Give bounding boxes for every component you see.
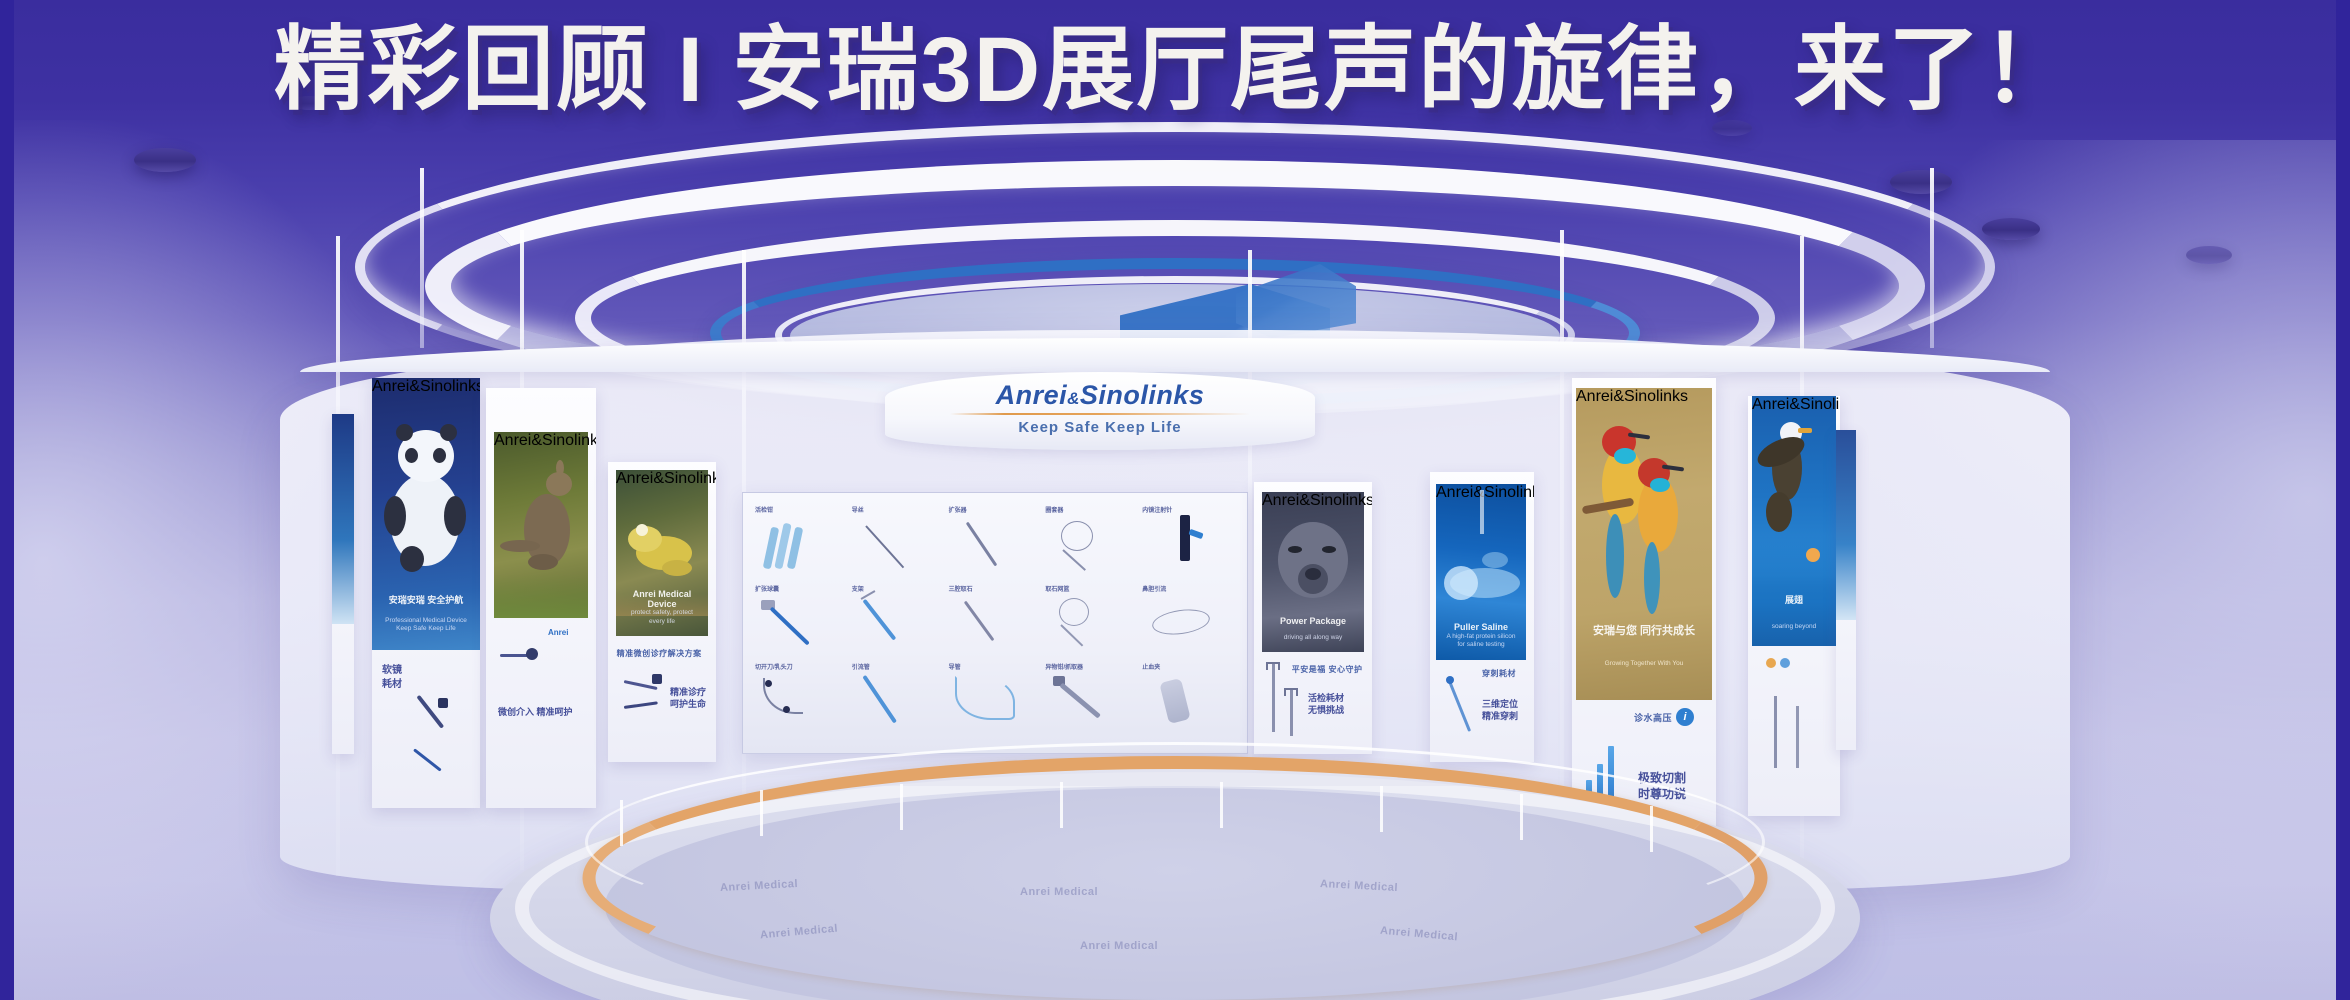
eagle-tail	[1766, 492, 1792, 532]
product-label: 内镜注射针	[1142, 505, 1172, 514]
floor-watermark-text: Anrei Medical	[1080, 940, 1158, 952]
kangaroo-leg	[528, 554, 558, 570]
badger-nose	[1305, 568, 1321, 580]
poster-subtitle: Growing Together With You	[1587, 660, 1701, 668]
product-display-wall: 活检钳 导丝 扩张器 圈套器 内镜注射针	[742, 492, 1248, 754]
poster-artwork-panda: Anrei&Sinolinks 安瑞安瑞 安全护航 Professional M…	[372, 378, 480, 650]
poster-brand-mark: Anrei&Sinolinks	[1262, 492, 1364, 510]
poster-board-edge-right	[1836, 430, 1856, 750]
poster-artwork-edge-right	[1836, 430, 1856, 620]
badger-eye-right	[1322, 546, 1336, 553]
poster-title: Power Package	[1270, 616, 1356, 626]
rail-post	[1380, 786, 1383, 832]
bird-one-throat	[1614, 448, 1636, 464]
product-cell: 异物钳/抓取器	[1043, 662, 1140, 741]
dot-icon	[1766, 658, 1776, 668]
poster-artwork-kangaroo: Anrei&Sinolinks	[494, 432, 588, 618]
product-label: 引流管	[852, 662, 870, 671]
brand-logo-plate: Anrei&Sinolinks Keep Safe Keep Life	[885, 372, 1315, 450]
brand-name-part1: Anrei	[996, 380, 1068, 410]
poster-board-panda: Anrei&Sinolinks 安瑞安瑞 安全护航 Professional M…	[372, 378, 480, 808]
product-cell: 内镜注射针	[1140, 505, 1237, 584]
poster-title: 安瑞与您 同行共成长	[1587, 622, 1701, 638]
poster-caption-secondary: 活检耗材 无惧挑战	[1308, 692, 1344, 716]
brand-logo-text: Anrei&Sinolinks	[885, 382, 1315, 409]
rail-post	[760, 790, 763, 836]
poster-subtitle: protect safety, protect every life	[623, 609, 700, 626]
brand-underline-rule	[950, 413, 1250, 415]
panda-ear-right	[440, 424, 457, 441]
whale-head	[1444, 566, 1478, 600]
product-cell: 圈套器	[1043, 505, 1140, 584]
poster-artwork-frog: Anrei&Sinolinks Anrei Medical Device pro…	[616, 470, 708, 636]
poster-title: Anrei Medical Device	[623, 589, 700, 609]
rail-post	[1520, 794, 1523, 840]
product-label: 活检钳	[755, 505, 773, 514]
product-label: 切开刀/乳头刀	[755, 662, 793, 671]
poster-caption-secondary: 三维定位 精准穿刺	[1482, 698, 1518, 722]
instrument-illustration	[500, 642, 540, 672]
poster-brand-mark: Anrei&Sinolinks	[494, 432, 588, 450]
product-cell: 鼻胆引流	[1140, 584, 1237, 663]
poster-brand-badge-row: 诊水高压 i	[1634, 708, 1694, 726]
poster-brand-blue-mark: Anrei	[548, 628, 568, 637]
ceiling-spoke	[1930, 168, 1934, 348]
panda-eye-right	[433, 448, 446, 463]
product-cell: 止血夹	[1140, 662, 1237, 741]
bird-one-tail	[1606, 514, 1624, 598]
poster-caption: 精准微创诊疗解决方案	[617, 648, 702, 659]
right-border-edge	[2336, 0, 2350, 1000]
rail-post	[1220, 782, 1223, 828]
brand-name-part2: Sinolinks	[1080, 380, 1205, 410]
rail-post	[1060, 782, 1063, 828]
product-label: 扩张球囊	[755, 584, 779, 593]
product-label: 导管	[949, 662, 961, 671]
poster-board-eagle: 展翅 soaring beyond Anrei&Sinolinks	[1748, 396, 1840, 816]
poster-board-badger: Power Package driving all along way Anre…	[1254, 482, 1372, 754]
poster-brand-mark: Anrei&Sinolinks	[1752, 396, 1836, 414]
product-cell: 三腔取石	[947, 584, 1044, 663]
rail-post	[900, 784, 903, 830]
product-cell: 导丝	[850, 505, 947, 584]
panda-eye-left	[405, 448, 418, 463]
floor-guard-rail	[585, 742, 1765, 942]
poster-subtitle: Professional Medical Device Keep Safe Ke…	[381, 617, 472, 634]
product-label: 支架	[852, 584, 864, 593]
instrument-illustration	[1444, 676, 1484, 746]
left-border-edge	[0, 0, 14, 1000]
poster-brand-mark: Anrei&Sinolinks	[1576, 388, 1712, 406]
whale-fin	[1482, 552, 1508, 568]
poster-caption: 软镜 耗材	[382, 664, 402, 691]
poster-title: 展翅	[1759, 593, 1830, 606]
ceiling-spoke	[420, 168, 424, 348]
poster-caption: 诊水高压	[1634, 711, 1672, 724]
poster-caption: 穿刺耗材	[1482, 668, 1516, 679]
dot-icon	[1780, 658, 1790, 668]
product-label: 鼻胆引流	[1142, 584, 1166, 593]
sun-dot	[1806, 548, 1820, 562]
poster-caption: 微创介入 精准呵护	[498, 706, 573, 718]
bird-two-tail	[1644, 542, 1660, 614]
frog-eye	[636, 524, 648, 536]
poster-artwork-ocean: Puller Saline A high-fat protein silicon…	[1436, 484, 1526, 660]
product-cell: 扩张器	[947, 505, 1044, 584]
floor-watermark-text: Anrei Medical	[1020, 886, 1098, 898]
poster-brand-mark: Anrei&Sinolinks	[372, 378, 480, 396]
product-grid: 活检钳 导丝 扩张器 圈套器 内镜注射针	[753, 505, 1237, 741]
poster-artwork-edge-left	[332, 414, 354, 624]
poster-subtitle: soaring beyond	[1759, 623, 1830, 631]
poster-icon-row	[1766, 658, 1790, 668]
poster-subtitle: A high-fat protein silicon for saline te…	[1443, 633, 1519, 650]
product-cell: 切开刀/乳头刀	[753, 662, 850, 741]
rail-post	[1650, 806, 1653, 852]
brand-ampersand: &	[1067, 389, 1080, 408]
poster-board-kangaroo: Anrei&Sinolinks Anrei 微创介入 精准呵护	[486, 388, 596, 808]
poster-board-frog: Anrei&Sinolinks Anrei Medical Device pro…	[608, 462, 716, 762]
product-label: 导丝	[852, 505, 864, 514]
poster-artwork-birds: 安瑞与您 同行共成长 Growing Together With You Anr…	[1576, 388, 1712, 700]
product-cell: 支架	[850, 584, 947, 663]
panda-arm-right	[444, 496, 466, 536]
panda-ear-left	[396, 424, 413, 441]
poster-brand-mark: Anrei&Sinolinks	[616, 470, 708, 488]
product-cell: 扩张球囊	[753, 584, 850, 663]
poster-artwork-badger: Power Package driving all along way Anre…	[1262, 492, 1364, 652]
exhibition-banner: Anrei&Sinolinks Keep Safe Keep Life Anre…	[0, 0, 2350, 1000]
product-label: 圈套器	[1045, 505, 1063, 514]
product-label: 异物钳/抓取器	[1045, 662, 1083, 671]
poster-caption-secondary: 精准诊疗 呵护生命	[670, 686, 706, 710]
brand-tagline: Keep Safe Keep Life	[885, 419, 1315, 436]
poster-board-ocean: Puller Saline A high-fat protein silicon…	[1430, 472, 1534, 762]
product-label: 取石网篮	[1045, 584, 1069, 593]
kangaroo-ear	[556, 460, 564, 476]
page-title: 精彩回顾 I 安瑞3D展厅尾声的旋律，来了！	[0, 22, 2350, 119]
instrument-illustration	[1764, 696, 1814, 786]
product-label: 止血夹	[1142, 662, 1160, 671]
poster-title: 安瑞安瑞 安全护航	[381, 593, 472, 606]
product-cell: 导管	[947, 662, 1044, 741]
product-label: 扩张器	[949, 505, 967, 514]
panda-arm-left	[384, 496, 406, 536]
poster-board-edge-left	[332, 414, 354, 754]
instrument-illustration	[1264, 662, 1304, 742]
badger-eye-left	[1288, 546, 1302, 553]
product-label: 三腔取石	[949, 584, 973, 593]
product-cell: 取石网篮	[1043, 584, 1140, 663]
instrument-illustration	[412, 694, 468, 794]
bird-two-throat	[1650, 478, 1670, 492]
product-cell: 活检钳	[753, 505, 850, 584]
kangaroo-tail	[500, 540, 540, 552]
poster-subtitle: driving all along way	[1270, 634, 1356, 642]
info-icon: i	[1676, 708, 1694, 726]
frog-leg	[662, 560, 692, 576]
poster-title: Puller Saline	[1443, 622, 1519, 632]
product-cell: 引流管	[850, 662, 947, 741]
rail-post	[620, 800, 623, 846]
poster-artwork-eagle: 展翅 soaring beyond Anrei&Sinolinks	[1752, 396, 1836, 646]
panda-leg	[400, 546, 424, 572]
instrument-illustration	[624, 670, 668, 726]
